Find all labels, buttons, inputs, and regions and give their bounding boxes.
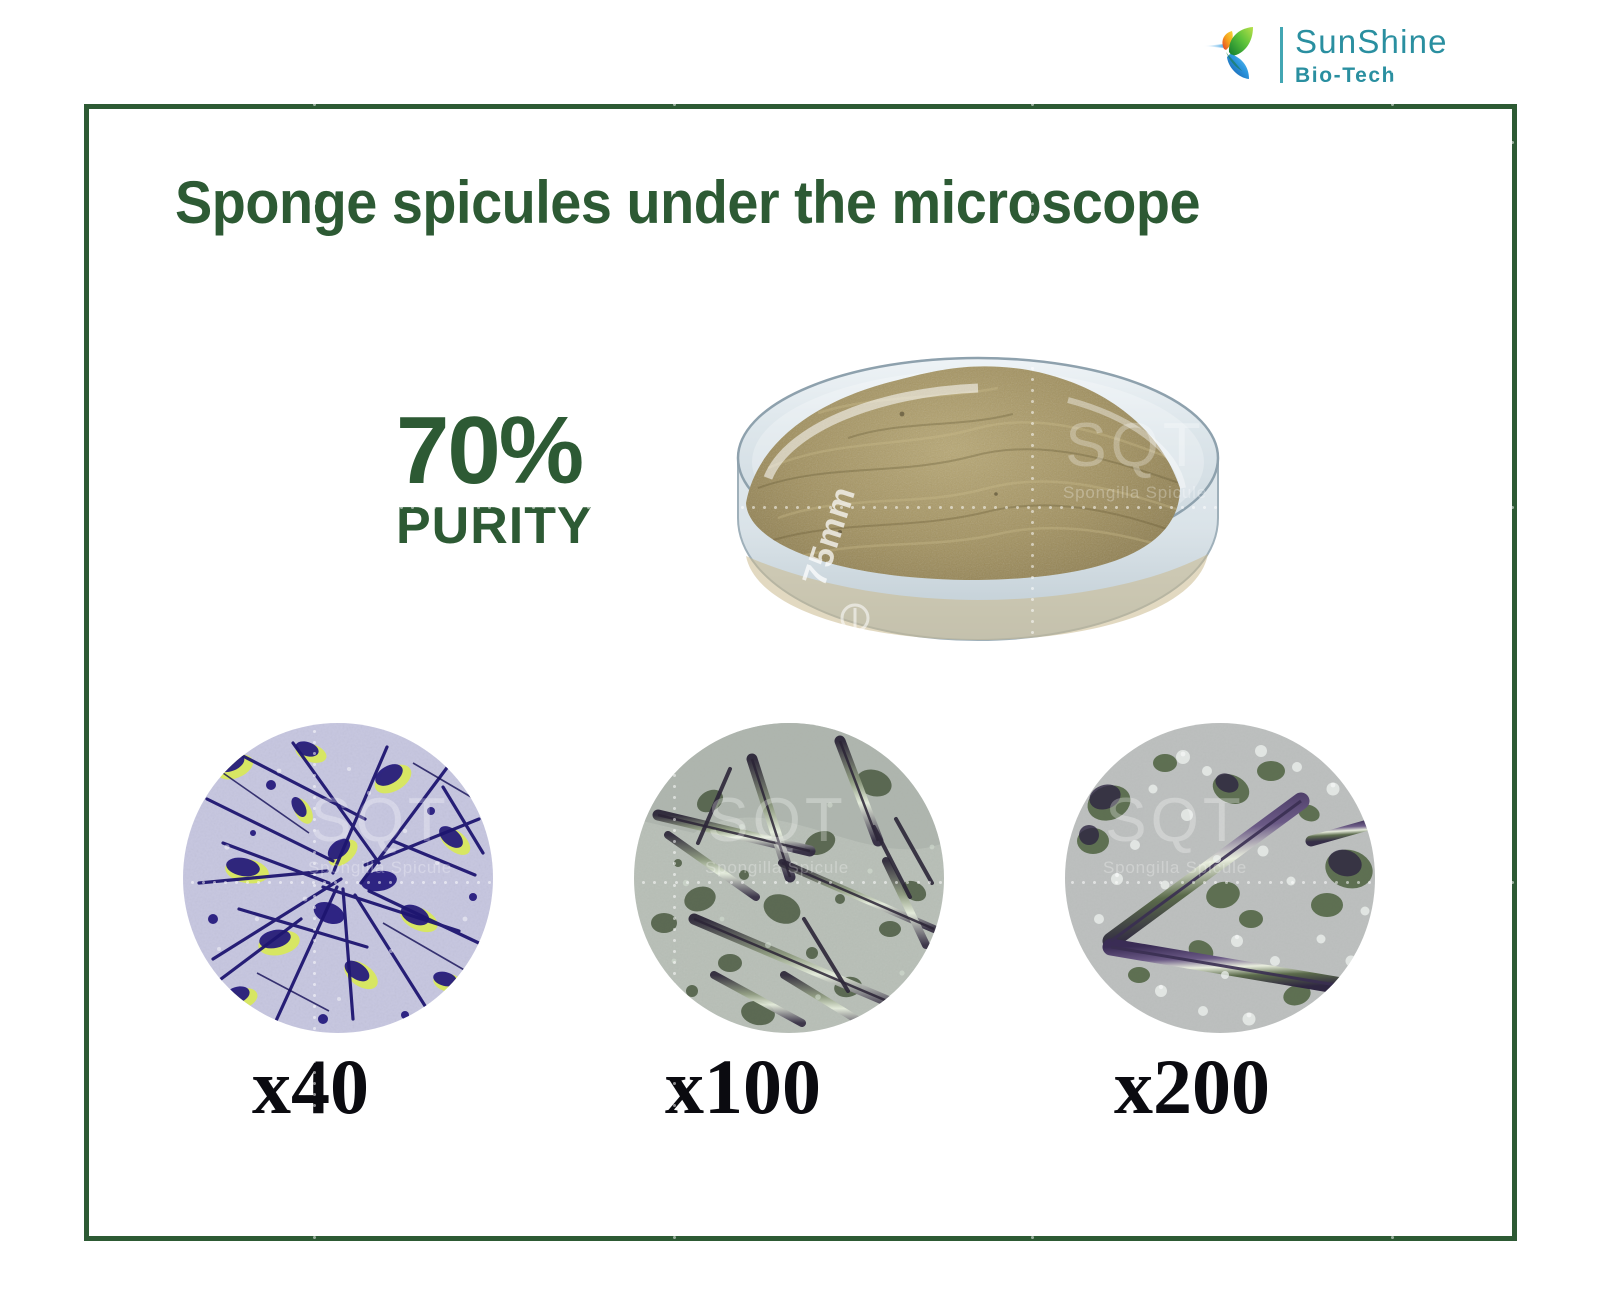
microscope-view-x200	[1065, 723, 1375, 1033]
purity-value: 70%	[396, 405, 656, 496]
brand-wordmark: SunShine Bio-Tech	[1295, 25, 1448, 86]
spicules-at-40x-magnification	[183, 723, 493, 1033]
microscope-view-x40	[183, 723, 493, 1033]
brand-divider	[1280, 27, 1283, 83]
purity-block: 70% PURITY	[396, 405, 656, 552]
spicules-at-100x-magnification	[634, 723, 944, 1033]
petri-dish-image: 75mm	[728, 288, 1228, 670]
microscope-view-x100	[634, 723, 944, 1033]
page-title: Sponge spicules under the microscope	[175, 168, 1328, 237]
hummingbird-leaf-logo-icon	[1196, 19, 1268, 91]
spicules-at-200x-magnification	[1065, 723, 1375, 1033]
magnification-label-x40: x40	[252, 1048, 369, 1126]
purity-label: PURITY	[396, 500, 656, 552]
poster-canvas: SunShine Bio-Tech Sponge spicules under …	[0, 0, 1611, 1314]
product-photo: 75mm	[728, 288, 1228, 670]
magnification-label-x100: x100	[665, 1048, 821, 1126]
brand-logo: SunShine Bio-Tech	[1196, 16, 1436, 94]
magnification-label-x200: x200	[1114, 1048, 1270, 1126]
brand-subtitle: Bio-Tech	[1295, 65, 1448, 86]
brand-name: SunShine	[1295, 25, 1448, 58]
